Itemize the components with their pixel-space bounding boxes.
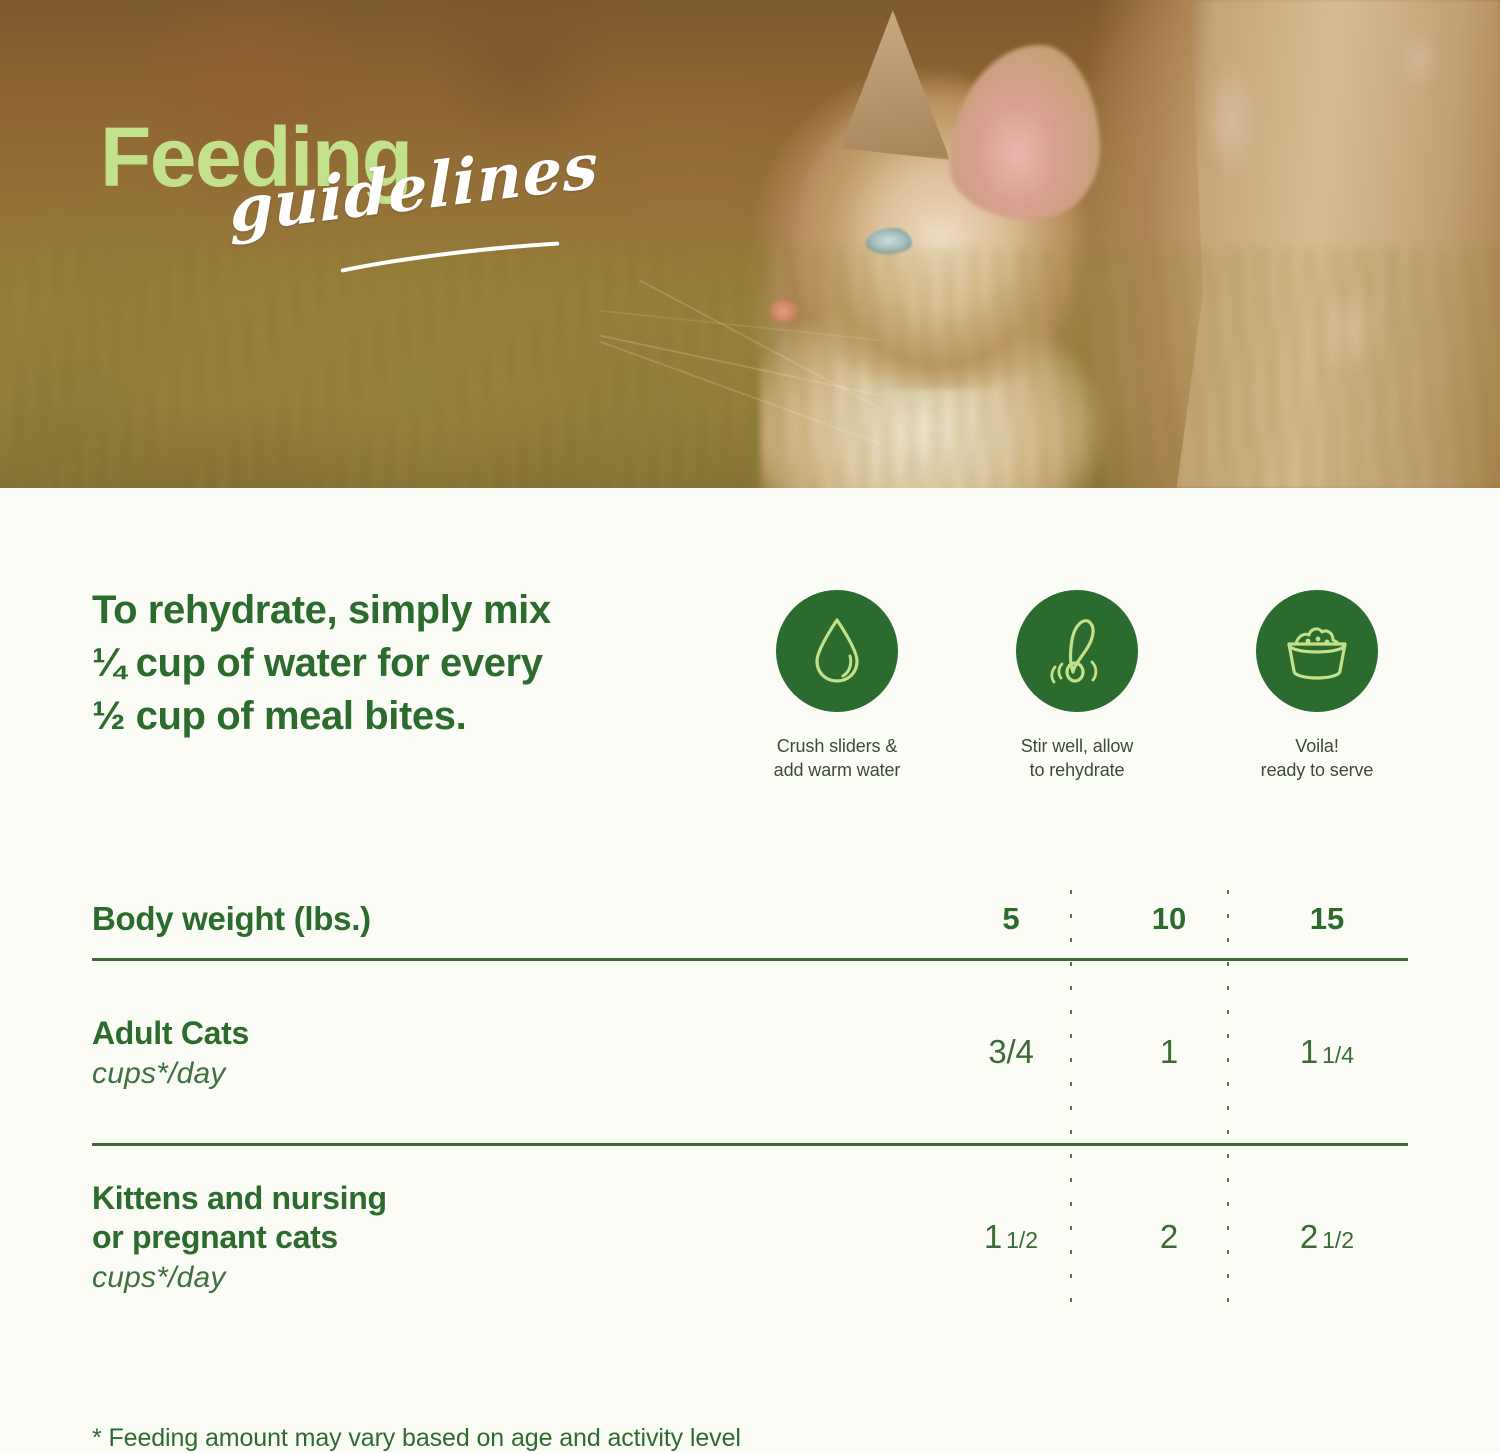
step-caption-line-2: to rehydrate: [986, 758, 1168, 782]
cell-value: 3/4: [988, 1033, 1033, 1070]
rehydrate-line-1: To rehydrate, simply mix: [92, 584, 710, 637]
column-header-5: 5: [932, 901, 1090, 937]
cell-fraction: 1/2: [1322, 1227, 1354, 1253]
food-bowl-icon: [1280, 621, 1354, 681]
content-area: To rehydrate, simply mix ¼ cup of water …: [0, 488, 1500, 1453]
step-caption-line-2: ready to serve: [1226, 758, 1408, 782]
row-name: Kittens and nursing or pregnant cats: [92, 1179, 932, 1257]
cell-fraction: 1/4: [1322, 1042, 1354, 1068]
cell-kitten-5: 11/2: [932, 1218, 1090, 1256]
cell-value: 1: [984, 1218, 1002, 1255]
table-rule-1: [92, 958, 1408, 961]
preparation-steps: Crush sliders & add warm water: [746, 590, 1408, 782]
cell-value: 2: [1300, 1218, 1318, 1255]
step-caption: Crush sliders & add warm water: [746, 734, 928, 782]
row-name: Adult Cats: [92, 1014, 932, 1053]
step-caption-line-1: Stir well, allow: [986, 734, 1168, 758]
column-header-10: 10: [1090, 901, 1248, 937]
hero-banner: Feeding guidelines: [0, 0, 1500, 488]
step-icon-circle: [776, 590, 898, 712]
step-caption-line-1: Voila!: [1226, 734, 1408, 758]
water-drop-icon: [807, 615, 867, 687]
column-header-15: 15: [1248, 901, 1406, 937]
step-caption: Stir well, allow to rehydrate: [986, 734, 1168, 782]
cell-adult-15: 11/4: [1248, 1033, 1406, 1071]
row-name-line-2: or pregnant cats: [92, 1218, 932, 1257]
row-label-kittens: Kittens and nursing or pregnant cats cup…: [92, 1179, 932, 1295]
row-label-adult-cats: Adult Cats cups*/day: [92, 1014, 932, 1091]
table-row: Kittens and nursing or pregnant cats cup…: [92, 1146, 1408, 1328]
table-rule-2: [92, 1143, 1408, 1146]
feeding-table: Body weight (lbs.) 5 10 15 Adult Cats cu…: [92, 880, 1408, 1328]
step-caption-line-2: add warm water: [746, 758, 928, 782]
step-icon-circle: [1016, 590, 1138, 712]
row-name-line-1: Kittens and nursing: [92, 1179, 932, 1218]
row-units: cups*/day: [92, 1057, 932, 1091]
cell-adult-5: 3/4: [932, 1033, 1090, 1071]
feeding-footnote: * Feeding amount may vary based on age a…: [92, 1328, 1408, 1453]
row-name-line-1: Adult Cats: [92, 1014, 932, 1053]
hero-subtitle-block: guidelines: [230, 174, 630, 247]
rehydrate-line-2: ¼ cup of water for every: [92, 637, 710, 690]
step-crush-sliders: Crush sliders & add warm water: [746, 590, 928, 782]
rehydrate-line-3: ½ cup of meal bites.: [92, 690, 710, 743]
stirring-spoon-icon: [1044, 614, 1110, 688]
cell-fraction: 1/2: [1006, 1227, 1038, 1253]
cell-adult-10: 1: [1090, 1033, 1248, 1071]
cell-value: 1: [1300, 1033, 1318, 1070]
step-caption-line-1: Crush sliders &: [746, 734, 928, 758]
step-ready-to-serve: Voila! ready to serve: [1226, 590, 1408, 782]
intro-row: To rehydrate, simply mix ¼ cup of water …: [0, 488, 1500, 782]
cell-kitten-15: 21/2: [1248, 1218, 1406, 1256]
table-header-label: Body weight (lbs.): [92, 900, 932, 938]
table-header-row: Body weight (lbs.) 5 10 15: [92, 880, 1408, 958]
step-icon-circle: [1256, 590, 1378, 712]
step-stir-well: Stir well, allow to rehydrate: [986, 590, 1168, 782]
cell-value: 1: [1160, 1033, 1178, 1070]
grass-foreground: [0, 248, 1500, 488]
step-caption: Voila! ready to serve: [1226, 734, 1408, 782]
row-units: cups*/day: [92, 1261, 932, 1295]
table-row: Adult Cats cups*/day 3/4 1 11/4: [92, 961, 1408, 1143]
hero-title-block: Feeding guidelines: [100, 118, 630, 247]
cell-kitten-10: 2: [1090, 1218, 1248, 1256]
cell-value: 2: [1160, 1218, 1178, 1255]
rehydrate-instructions: To rehydrate, simply mix ¼ cup of water …: [92, 584, 710, 742]
